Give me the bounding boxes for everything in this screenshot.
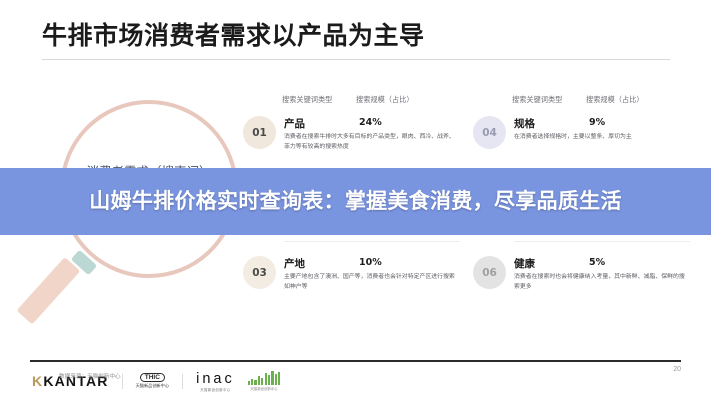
footer-divider [30, 360, 681, 362]
row-keyword: 规格 [514, 116, 535, 131]
header-keyword-type: 搜索关键词类型 [282, 95, 332, 105]
row-index-badge: 06 [473, 256, 506, 289]
row-keyword: 产地 [284, 256, 305, 271]
table-row[interactable]: 03 产地 10% 主要产地包含了澳洲、国产等，消费者也会针对特定产区进行搜索如… [243, 253, 461, 315]
row-description: 在消费者选择规格时，主要以整条、厚切为主 [514, 133, 686, 143]
row-divider [514, 241, 690, 242]
row-index-badge: 04 [473, 116, 506, 149]
row-description: 消费者在搜索牛排时大多有目标的产品类型，眼肉、西冷、战斧、菲力等有较高的搜索热度 [284, 133, 456, 152]
row-description: 主要产地包含了澳洲、国产等，消费者也会针对特定产区进行搜索如神户等 [284, 273, 456, 292]
row-divider [284, 241, 460, 242]
row-keyword: 健康 [514, 256, 535, 271]
table-row[interactable]: 06 健康 5% 消费者在搜索时也会将健康纳入考量，其中新鲜、减脂、保鲜的搜索更… [473, 253, 691, 315]
kantar-logo-initial: K [32, 373, 43, 389]
overlay-banner-text: 山姆牛排价格实时查询表：掌握美食消费，尽享品质生活 [36, 188, 676, 216]
thic-logo-subtitle: 天猫新品创新中心 [136, 383, 170, 389]
logo-separator [122, 374, 123, 389]
row-percent: 5% [589, 257, 605, 268]
overlay-banner: 山姆牛排价格实时查询表：掌握美食消费，尽享品质生活 [0, 168, 711, 235]
column-header-left: 搜索关键词类型 搜索规模（占比） [243, 95, 461, 111]
inac-logo: inac 天猫新品创新中心 [196, 371, 235, 392]
row-percent: 10% [359, 257, 382, 268]
row-description: 消费者在搜索时也会将健康纳入考量，其中新鲜、减脂、保鲜的搜索更多 [514, 273, 686, 292]
column-header-right: 搜索关键词类型 搜索规模（占比） [473, 95, 691, 111]
row-index-badge: 03 [243, 256, 276, 289]
row-keyword: 产品 [284, 116, 305, 131]
source-note: 数据来源：天猫创新中心 [59, 372, 121, 380]
page-title: 牛排市场消费者需求以产品为主导 [42, 22, 672, 50]
title-divider [42, 59, 670, 60]
logo-separator [182, 374, 183, 389]
bars-logo-icon [248, 371, 281, 385]
table-row[interactable]: 04 规格 9% 在消费者选择规格时，主要以整条、厚切为主 [473, 113, 691, 175]
inac-logo-subtitle: 天猫新品创新中心 [196, 387, 235, 392]
bars-logo-subtitle: 天猫新品创新中心 [250, 386, 277, 391]
thic-logo-mark: THIC [140, 373, 165, 382]
slide-canvas: 牛排市场消费者需求以产品为主导 消费者需求（搜索词） 整体分布情况 搜索关键词类… [0, 0, 711, 400]
title-block: 牛排市场消费者需求以产品为主导 [42, 22, 672, 60]
table-row[interactable]: 01 产品 24% 消费者在搜索牛排时大多有目标的产品类型，眼肉、西冷、战斧、菲… [243, 113, 461, 175]
inac-logo-text: inac [196, 371, 235, 387]
row-percent: 24% [359, 117, 382, 128]
row-percent: 9% [589, 117, 605, 128]
row-index-badge: 01 [243, 116, 276, 149]
header-keyword-type: 搜索关键词类型 [512, 95, 562, 105]
page-number: 20 [673, 366, 681, 373]
bars-logo: 天猫新品创新中心 [248, 371, 281, 392]
magnifier-handle-icon [17, 257, 81, 325]
thic-logo: THIC 天猫新品创新中心 [136, 373, 170, 390]
header-search-scale: 搜索规模（占比） [356, 95, 414, 105]
header-search-scale: 搜索规模（占比） [586, 95, 644, 105]
